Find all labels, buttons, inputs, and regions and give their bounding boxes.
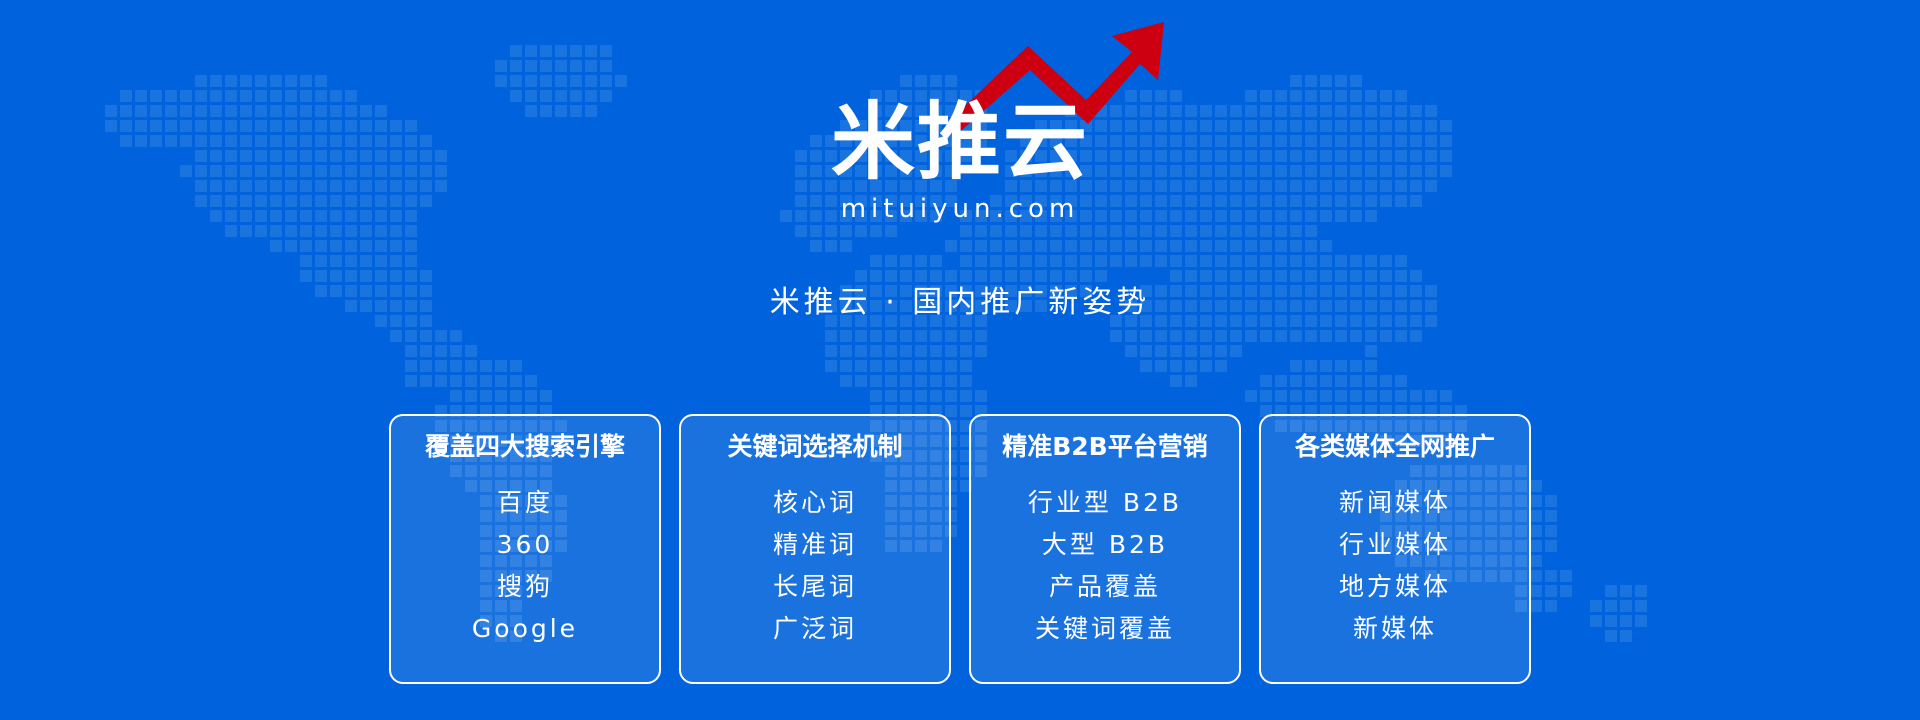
card-list-item: 行业媒体 bbox=[1339, 526, 1451, 563]
card-list-item: 360 bbox=[497, 526, 554, 563]
card-item-list: 行业型 B2B 大型 B2B 产品覆盖 关键词覆盖 bbox=[1028, 484, 1182, 647]
logo-block: 米推云 mituiyun.com bbox=[0, 8, 1920, 238]
card-list-item: 新闻媒体 bbox=[1339, 484, 1451, 521]
logo-mark: 米推云 mituiyun.com bbox=[750, 8, 1170, 238]
card-list-item: 地方媒体 bbox=[1339, 568, 1451, 605]
card-title: 精准B2B平台营销 bbox=[1002, 430, 1208, 464]
card-list-item: 大型 B2B bbox=[1042, 526, 1168, 563]
card-list-item: 核心词 bbox=[773, 484, 857, 521]
card-list-item: 行业型 B2B bbox=[1028, 484, 1182, 521]
card-list-item: 新媒体 bbox=[1353, 610, 1437, 647]
logo-brand-text: 米推云 bbox=[750, 96, 1170, 188]
promo-banner: 米推云 mituiyun.com 米推云 · 国内推广新姿势 覆盖四大搜索引擎 … bbox=[0, 0, 1920, 720]
card-list-item: 精准词 bbox=[773, 526, 857, 563]
feature-card-keyword-mechanism[interactable]: 关键词选择机制 核心词 精准词 长尾词 广泛词 bbox=[679, 414, 951, 684]
feature-card-row: 覆盖四大搜索引擎 百度 360 搜狗 Google 关键词选择机制 核心词 精准… bbox=[0, 414, 1920, 684]
card-list-item: 搜狗 bbox=[497, 568, 553, 605]
logo-domain-text: mituiyun.com bbox=[750, 194, 1170, 224]
card-list-item: Google bbox=[472, 610, 578, 647]
feature-card-search-engines[interactable]: 覆盖四大搜索引擎 百度 360 搜狗 Google bbox=[389, 414, 661, 684]
feature-card-b2b-marketing[interactable]: 精准B2B平台营销 行业型 B2B 大型 B2B 产品覆盖 关键词覆盖 bbox=[969, 414, 1241, 684]
card-list-item: 百度 bbox=[497, 484, 553, 521]
card-list-item: 长尾词 bbox=[773, 568, 857, 605]
card-list-item: 广泛词 bbox=[773, 610, 857, 647]
card-item-list: 百度 360 搜狗 Google bbox=[472, 484, 578, 647]
card-title: 关键词选择机制 bbox=[727, 430, 902, 464]
card-title: 覆盖四大搜索引擎 bbox=[425, 430, 625, 464]
card-item-list: 核心词 精准词 长尾词 广泛词 bbox=[773, 484, 857, 647]
feature-card-media-promotion[interactable]: 各类媒体全网推广 新闻媒体 行业媒体 地方媒体 新媒体 bbox=[1259, 414, 1531, 684]
card-list-item: 关键词覆盖 bbox=[1035, 610, 1175, 647]
card-list-item: 产品覆盖 bbox=[1049, 568, 1161, 605]
tagline: 米推云 · 国内推广新姿势 bbox=[0, 283, 1920, 323]
card-title: 各类媒体全网推广 bbox=[1295, 430, 1495, 464]
card-item-list: 新闻媒体 行业媒体 地方媒体 新媒体 bbox=[1339, 484, 1451, 647]
